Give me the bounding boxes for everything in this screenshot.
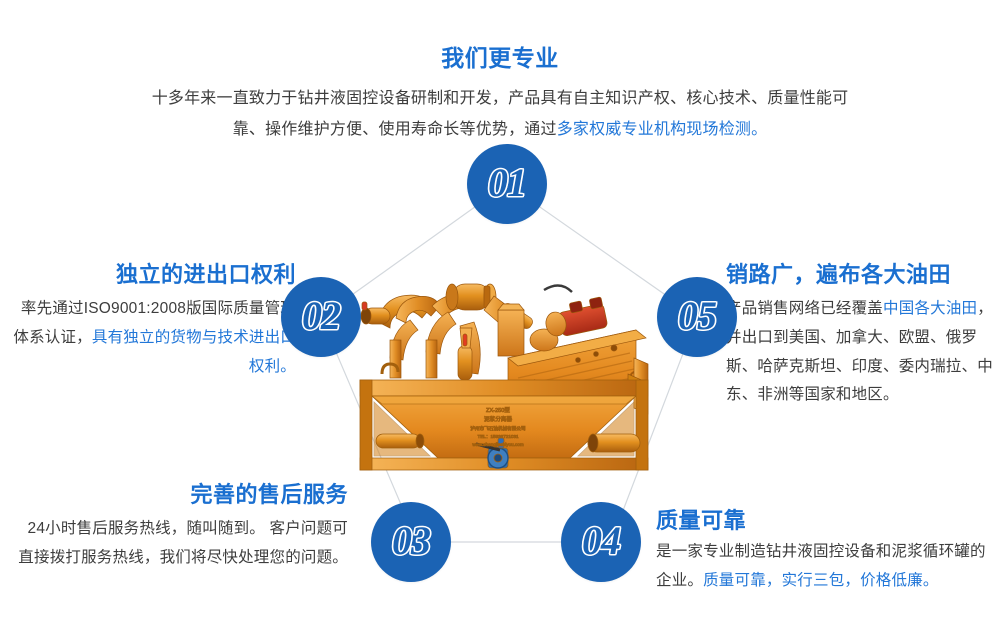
feature-body-04: 是一家专业制造钻井液固控设备和泥浆循环罐的企业。质量可靠，实行三包，价格低廉。 (656, 538, 994, 595)
feature-body-highlight-01: 多家权威专业机构现场检测。 (557, 121, 768, 138)
step-number-03: 03 (392, 521, 430, 561)
step-number-05: 05 (678, 296, 716, 336)
svg-text:ZX-250型: ZX-250型 (486, 406, 510, 414)
photo-feed-chute (498, 304, 524, 356)
feature-block-01: 我们更专业 十多年来一直致力于钻井液固控设备研制和开发，产品具有自主知识产权、核… (150, 45, 850, 145)
feature-body-03: 24小时售后服务热线，随叫随到。 客户问题可直接拨打服务热线，我们将尽快处理您的… (8, 515, 348, 572)
feature-body-05: 产品销售网络已经覆盖中国各大油田，并出口到美国、加拿大、欧盟、俄罗斯、哈萨克斯坦… (726, 295, 998, 410)
feature-heading-02: 独立的进出口权利 (6, 262, 296, 288)
step-circle-05[interactable]: 05 (657, 277, 737, 357)
feature-body-highlight-05: 中国各大油田 (883, 300, 977, 317)
feature-block-02: 独立的进出口权利 率先通过ISO9001:2008版国际质量管理体系认证，具有独… (6, 262, 296, 381)
feature-body-plain-05a: 产品销售网络已经覆盖 (726, 300, 883, 317)
feature-heading-01: 我们更专业 (150, 45, 850, 73)
feature-block-04: 质量可靠 是一家专业制造钻井液固控设备和泥浆循环罐的企业。质量可靠，实行三包，价… (656, 508, 994, 596)
svg-text:TEL：15936721031: TEL：15936721031 (477, 434, 519, 439)
svg-text:泥浆分离器: 泥浆分离器 (484, 415, 512, 423)
feature-body-02: 率先通过ISO9001:2008版国际质量管理体系认证，具有独立的货物与技术进出… (6, 295, 296, 381)
feature-body-01: 十多年来一直致力于钻井液固控设备研制和开发，产品具有自主知识产权、核心技术、质量… (150, 83, 850, 145)
step-number-01: 01 (488, 163, 526, 203)
photo-vibrator-motor (544, 285, 608, 337)
feature-body-highlight-04: 质量可靠，实行三包，价格低廉。 (703, 572, 939, 589)
feature-block-05: 销路广，遍布各大油田 产品销售网络已经覆盖中国各大油田，并出口到美国、加拿大、欧… (726, 262, 998, 410)
step-number-02: 02 (302, 296, 340, 336)
step-number-04: 04 (582, 521, 620, 561)
step-circle-01[interactable]: 01 (467, 144, 547, 224)
feature-heading-04: 质量可靠 (656, 508, 994, 534)
step-circle-02[interactable]: 02 (281, 277, 361, 357)
step-circle-04[interactable]: 04 (561, 502, 641, 582)
feature-body-plain-03: 24小时售后服务热线，随叫随到。 客户问题可直接拨打服务热线，我们将尽快处理您的… (12, 520, 348, 566)
feature-heading-03: 完善的售后服务 (8, 482, 348, 508)
svg-text:泸州市飞石油机械有限公司: 泸州市飞石油机械有限公司 (470, 425, 526, 432)
feature-heading-05: 销路广，遍布各大油田 (726, 262, 998, 288)
product-photo-mud-separator: ZX-250型 泥浆分离器 泸州市飞石油机械有限公司 TEL：159367210… (348, 262, 658, 480)
step-circle-03[interactable]: 03 (371, 502, 451, 582)
photo-tank-body: ZX-250型 泥浆分离器 泸州市飞石油机械有限公司 TEL：159367210… (360, 364, 648, 470)
svg-text:www.shengjieshiyou.com: www.shengjieshiyou.com (472, 442, 523, 447)
feature-body-highlight-02: 具有独立的货物与技术进出口权利。 (92, 329, 296, 375)
feature-block-03: 完善的售后服务 24小时售后服务热线，随叫随到。 客户问题可直接拨打服务热线，我… (8, 482, 348, 573)
infographic-canvas: ZX-250型 泥浆分离器 泸州市飞石油机械有限公司 TEL：159367210… (0, 0, 1000, 642)
